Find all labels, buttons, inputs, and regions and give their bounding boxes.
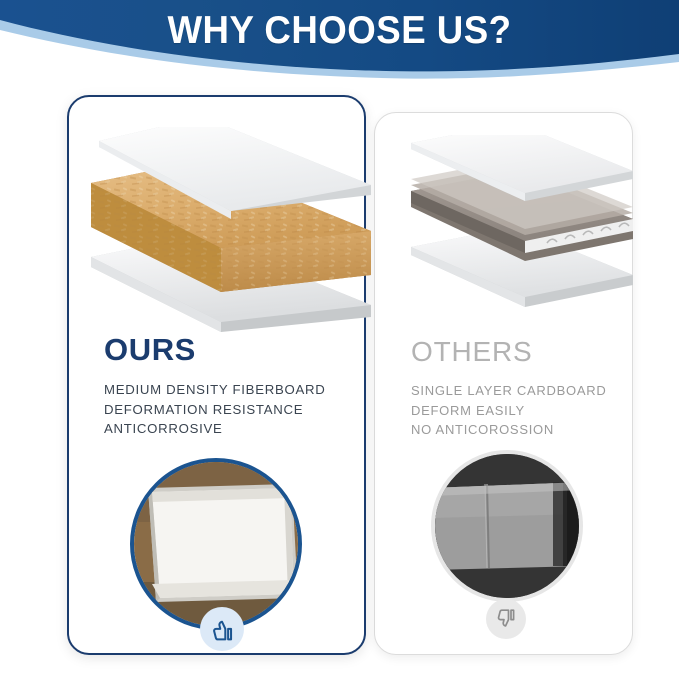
feature-item: MEDIUM DENSITY FIBERBOARD (104, 380, 325, 400)
panel-others-features: SINGLE LAYER CARDBOARD DEFORM EASILY NO … (411, 381, 606, 440)
verdict-badge-ours (200, 607, 244, 651)
feature-item: DEFORMATION RESISTANCE (104, 400, 325, 420)
thumbs-down-icon (494, 607, 518, 631)
feature-item: NO ANTICOROSSION (411, 420, 606, 440)
panel-others-heading: OTHERS (411, 336, 532, 368)
others-product-photo (431, 450, 583, 602)
page-title: WHY CHOOSE US? (20, 9, 658, 53)
panel-ours: OURS MEDIUM DENSITY FIBERBOARD DEFORMATI… (67, 95, 366, 655)
panel-ours-features: MEDIUM DENSITY FIBERBOARD DEFORMATION RE… (104, 380, 325, 439)
panel-others: OTHERS SINGLE LAYER CARDBOARD DEFORM EAS… (374, 112, 633, 655)
feature-item: ANTICORROSIVE (104, 419, 325, 439)
ours-product-photo (130, 458, 302, 630)
feature-item: SINGLE LAYER CARDBOARD (411, 381, 606, 401)
feature-item: DEFORM EASILY (411, 401, 606, 421)
creased-gray-board-image (435, 454, 579, 598)
whiteboard-image (134, 462, 298, 626)
header-banner: WHY CHOOSE US? (0, 0, 679, 90)
thumbs-up-icon (209, 616, 236, 643)
mdf-board-illustration (81, 127, 371, 332)
infographic-root: WHY CHOOSE US? (0, 0, 679, 677)
corrugated-cardboard-illustration (397, 135, 633, 320)
panel-ours-heading: OURS (104, 333, 196, 367)
verdict-badge-others (486, 599, 526, 639)
